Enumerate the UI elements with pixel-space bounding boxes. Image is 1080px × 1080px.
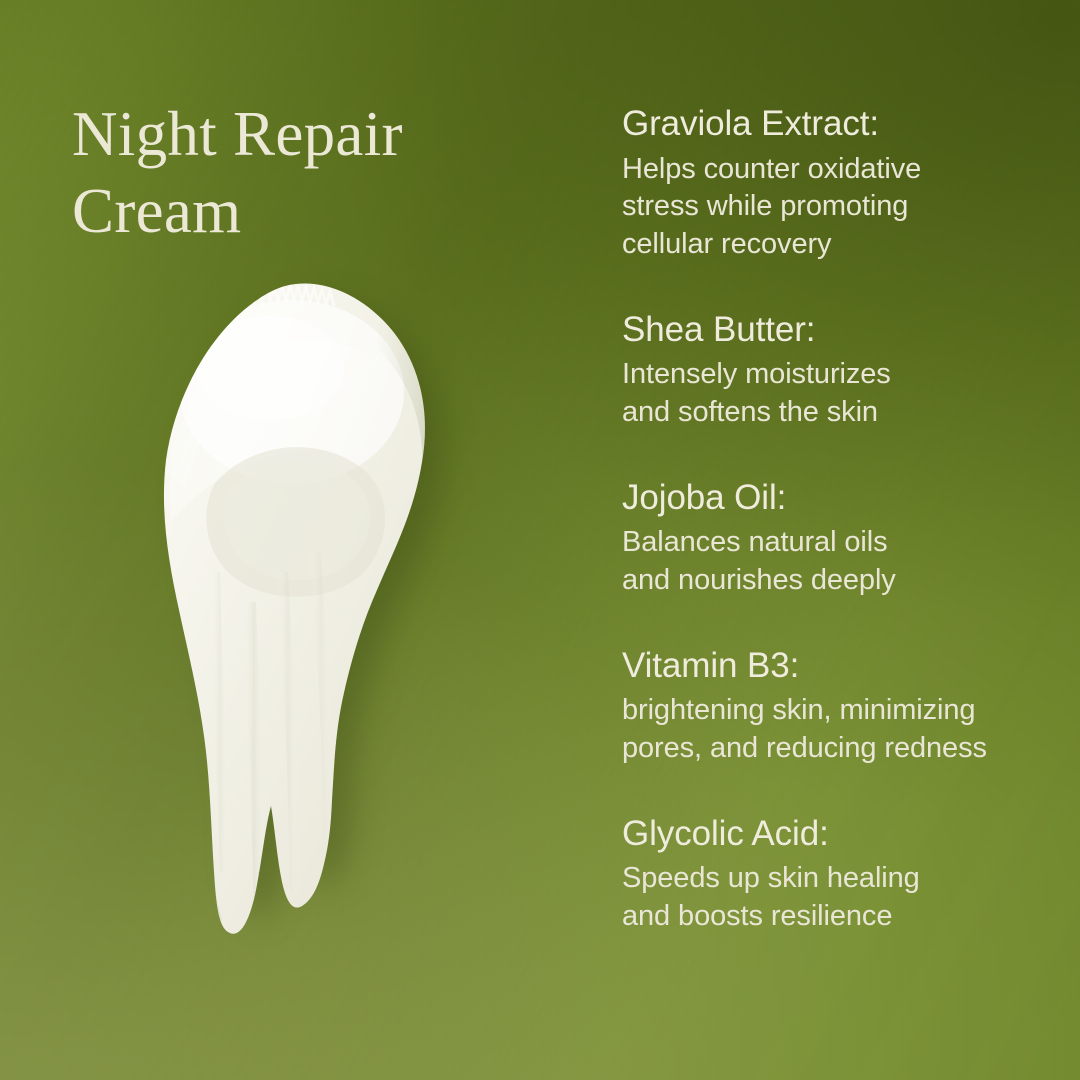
- ingredient-name: Jojoba Oil:: [622, 478, 1032, 519]
- cream-swatch: [150, 272, 480, 1012]
- ingredient-item-graviola-extract: Graviola Extract: Helps counter oxidativ…: [622, 104, 1032, 264]
- ingredient-description: Speeds up skin healing and boosts resili…: [622, 860, 1032, 935]
- ingredient-name: Shea Butter:: [622, 310, 1032, 351]
- ingredient-name: Vitamin B3:: [622, 646, 1032, 687]
- ingredient-item-shea-butter: Shea Butter: Intensely moisturizes and s…: [622, 310, 1032, 432]
- cream-swatch-shape: [150, 272, 480, 1012]
- ingredient-item-vitamin-b3: Vitamin B3: brightening skin, minimizing…: [622, 646, 1032, 768]
- ingredient-name: Glycolic Acid:: [622, 814, 1032, 855]
- ingredient-description: brightening skin, minimizing pores, and …: [622, 692, 1032, 767]
- ingredient-description: Helps counter oxidative stress while pro…: [622, 151, 1032, 264]
- ingredient-name: Graviola Extract:: [622, 104, 1032, 145]
- ingredient-description: Intensely moisturizes and softens the sk…: [622, 356, 1032, 431]
- page-title: Night Repair Cream: [72, 96, 542, 250]
- ingredient-item-glycolic-acid: Glycolic Acid: Speeds up skin healing an…: [622, 814, 1032, 936]
- ingredient-description: Balances natural oils and nourishes deep…: [622, 524, 1032, 599]
- ingredient-item-jojoba-oil: Jojoba Oil: Balances natural oils and no…: [622, 478, 1032, 600]
- product-ingredient-card: Night Repair Cream: [0, 0, 1080, 1080]
- ingredient-list: Graviola Extract: Helps counter oxidativ…: [622, 104, 1032, 936]
